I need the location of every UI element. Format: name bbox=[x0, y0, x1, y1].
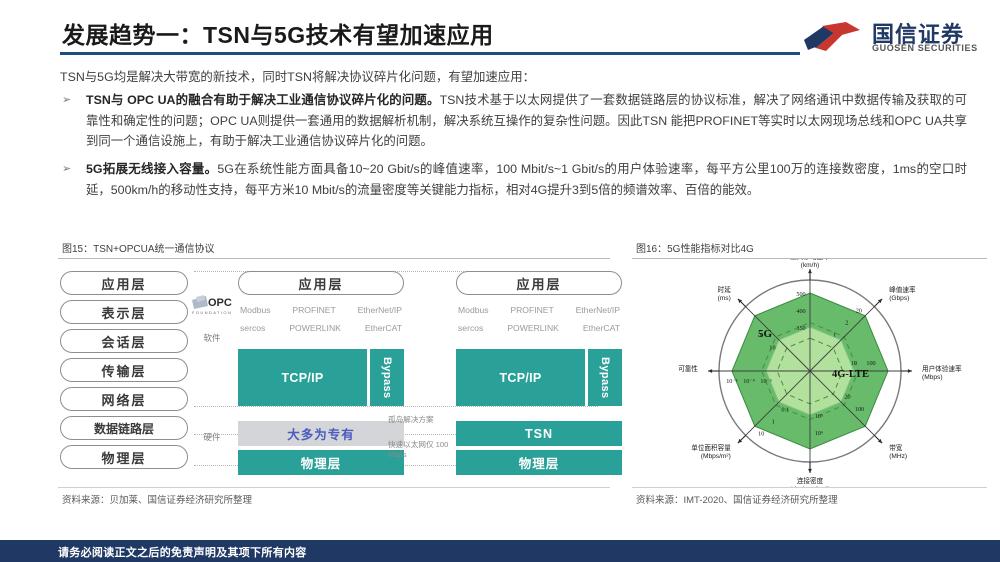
osi-layer-transport: 传输层 bbox=[60, 358, 188, 382]
note-island-solution: 孤岛解决方案 bbox=[388, 415, 452, 425]
protocol-ethercat: EtherCAT bbox=[365, 323, 402, 333]
figure-15-source: 资料来源：贝加莱、国信证券经济研究所整理 bbox=[58, 487, 610, 506]
svg-text:20: 20 bbox=[844, 394, 850, 401]
legacy-protocol-row-1: Modbus PROFINET EtherNet/IP bbox=[238, 305, 404, 315]
svg-text:10⁻⁵: 10⁻⁵ bbox=[726, 378, 738, 385]
tsn-transport-row: TCP/IP Bypass bbox=[456, 349, 622, 406]
osi-layer-datalink: 数据链路层 bbox=[60, 416, 188, 440]
radar-axis-label: 时延(ms) bbox=[718, 285, 732, 302]
svg-text:10: 10 bbox=[769, 344, 775, 351]
svg-text:10⁶: 10⁶ bbox=[815, 430, 823, 437]
osi-layer-column: 应用层 表示层 会话层 传输层 网络层 数据链路层 物理层 bbox=[60, 271, 188, 474]
footer-disclaimer-text: 请务必阅读正文之后的免责声明及其项下所有内容 bbox=[58, 544, 307, 560]
note-fast-ethernet: 快速以太网仅 100 Mbps bbox=[388, 440, 452, 459]
svg-text:20: 20 bbox=[856, 308, 862, 315]
tsn-application-layer: 应用层 bbox=[456, 271, 622, 295]
radar-axis-label: 最高移动速率(km/h) bbox=[790, 259, 830, 269]
software-label: 软件 bbox=[195, 332, 229, 344]
svg-text:OPC: OPC bbox=[208, 297, 232, 309]
tsn-tcpip-box: TCP/IP bbox=[456, 349, 585, 406]
guosen-logo-icon bbox=[802, 20, 864, 54]
bullet-item-1: ➢ TSN与 OPC UA的融合有助于解决工业通信协议碎片化的问题。TSN技术基… bbox=[62, 90, 967, 152]
protocol-ethernetip: EtherNet/IP bbox=[576, 305, 620, 315]
slide-header: 发展趋势一：TSN与5G技术有望加速应用 国信证券 GUOSEN SECURIT… bbox=[0, 0, 1000, 62]
svg-text:1: 1 bbox=[772, 419, 775, 426]
logo-text-en: GUOSEN SECURITIES bbox=[872, 43, 978, 53]
legend-4g-lte: 4G-LTE bbox=[832, 369, 869, 380]
hardware-label: 硬件 bbox=[195, 431, 229, 443]
radar-axis-label: 可靠性 bbox=[678, 364, 698, 373]
protocol-sercos: sercos bbox=[240, 323, 265, 333]
radar-chart: 350400500最高移动速率(km/h)1220峰值速率(Gbps)10100… bbox=[632, 259, 987, 487]
tsn-bypass-label: Bypass bbox=[599, 357, 611, 399]
protocol-ethercat: EtherCAT bbox=[583, 323, 620, 333]
radar-axis-label: 用户体验速率(Mbps) bbox=[922, 364, 962, 381]
tsn-protocol-row-2: sercos POWERLINK EtherCAT bbox=[456, 323, 622, 333]
page-title: 发展趋势一：TSN与5G技术有望加速应用 bbox=[62, 16, 494, 50]
protocol-profinet: PROFINET bbox=[510, 305, 553, 315]
stack-legacy: 应用层 Modbus PROFINET EtherNet/IP sercos P… bbox=[238, 271, 404, 333]
svg-text:FOUNDATION: FOUNDATION bbox=[192, 310, 232, 315]
figure-15: 图15：TSN+OPCUA统一通信协议 应用层 表示层 会话层 传输层 网络层 … bbox=[58, 240, 610, 512]
osi-layer-physical: 物理层 bbox=[60, 445, 188, 469]
svg-text:10: 10 bbox=[851, 360, 857, 367]
radar-axis-label: 单位面积容量(Mbps/m²) bbox=[691, 443, 731, 460]
protocol-modbus: Modbus bbox=[240, 305, 271, 315]
svg-text:10: 10 bbox=[758, 431, 764, 438]
svg-text:100: 100 bbox=[855, 406, 864, 413]
svg-text:100: 100 bbox=[866, 360, 875, 367]
bullet-marker: ➢ bbox=[62, 159, 78, 180]
protocol-powerlink: POWERLINK bbox=[289, 323, 341, 333]
bullet-lead-1: TSN与 OPC UA的融合有助于解决工业通信协议碎片化的问题。 bbox=[86, 93, 440, 107]
osi-layer-application: 应用层 bbox=[60, 271, 188, 295]
legacy-tcpip-box: TCP/IP bbox=[238, 349, 367, 406]
figure-16-source: 资料来源：IMT-2020、国信证券经济研究所整理 bbox=[632, 487, 987, 506]
divider-datalink bbox=[194, 406, 598, 407]
tsn-datalink-band: TSN bbox=[456, 421, 622, 446]
legacy-protocol-row-2: sercos POWERLINK EtherCAT bbox=[238, 323, 404, 333]
footer-disclaimer-bar: 请务必阅读正文之后的免责声明及其项下所有内容 bbox=[0, 540, 1000, 562]
legacy-application-layer: 应用层 bbox=[238, 271, 404, 295]
slide-page: 发展趋势一：TSN与5G技术有望加速应用 国信证券 GUOSEN SECURIT… bbox=[0, 0, 1000, 562]
tsn-physical-band: 物理层 bbox=[456, 450, 622, 475]
opc-foundation-logo-icon: OPC FOUNDATION bbox=[192, 294, 240, 316]
figure-16-caption: 图16：5G性能指标对比4G bbox=[632, 240, 987, 259]
tsn-bypass-box: Bypass bbox=[588, 349, 622, 406]
radar-axis-label: 峰值速率(Gbps) bbox=[889, 285, 916, 302]
title-underline bbox=[60, 52, 800, 55]
lead-paragraph: TSN与5G均是解决大带宽的新技术，同时TSN将解决协议碎片化问题，有望加速应用… bbox=[60, 68, 960, 86]
svg-text:2: 2 bbox=[845, 320, 848, 327]
svg-text:10⁻³: 10⁻³ bbox=[760, 378, 771, 385]
legacy-datalink-band: 大多为专有 bbox=[238, 421, 404, 446]
protocol-sercos: sercos bbox=[458, 323, 483, 333]
protocol-modbus: Modbus bbox=[458, 305, 489, 315]
bullet-marker: ➢ bbox=[62, 90, 78, 111]
radar-axis-label: 连接密度(devices/km²) bbox=[790, 476, 830, 487]
stack-tsn: 应用层 Modbus PROFINET EtherNet/IP sercos P… bbox=[456, 271, 622, 333]
osi-layer-network: 网络层 bbox=[60, 387, 188, 411]
svg-text:10⁻⁴: 10⁻⁴ bbox=[743, 378, 755, 385]
bullet-rest-2: 5G在系统性能方面具备10~20 Gbit/s的峰值速率，100 Mbit/s~… bbox=[86, 162, 967, 197]
svg-text:0.1: 0.1 bbox=[781, 407, 789, 414]
protocol-powerlink: POWERLINK bbox=[507, 323, 559, 333]
protocol-ethernetip: EtherNet/IP bbox=[358, 305, 402, 315]
bullet-text: 5G拓展无线接入容量。5G在系统性能方面具备10~20 Gbit/s的峰值速率，… bbox=[86, 159, 967, 200]
tsn-protocol-row-1: Modbus PROFINET EtherNet/IP bbox=[456, 305, 622, 315]
brand-logo: 国信证券 GUOSEN SECURITIES bbox=[802, 18, 980, 58]
protocol-profinet: PROFINET bbox=[292, 305, 335, 315]
svg-text:1: 1 bbox=[833, 332, 836, 339]
legend-5g: 5G bbox=[758, 328, 773, 340]
figure-16: 图16：5G性能指标对比4G 350400500最高移动速率(km/h)1220… bbox=[632, 240, 987, 512]
osi-layer-session: 会话层 bbox=[60, 329, 188, 353]
figure-15-body: 应用层 表示层 会话层 传输层 网络层 数据链路层 物理层 OPC FOUNDA… bbox=[58, 259, 610, 487]
radar-chart-svg: 350400500最高移动速率(km/h)1220峰值速率(Gbps)10100… bbox=[632, 259, 987, 487]
svg-text:500: 500 bbox=[796, 291, 805, 298]
legacy-bypass-label: Bypass bbox=[381, 357, 393, 399]
osi-layer-presentation: 表示层 bbox=[60, 300, 188, 324]
legacy-physical-band: 物理层 bbox=[238, 450, 404, 475]
bullet-item-2: ➢ 5G拓展无线接入容量。5G在系统性能方面具备10~20 Gbit/s的峰值速… bbox=[62, 159, 967, 200]
radar-axis-label: 带宽(MHz) bbox=[889, 443, 907, 460]
figure-16-body: 350400500最高移动速率(km/h)1220峰值速率(Gbps)10100… bbox=[632, 259, 987, 487]
svg-text:350: 350 bbox=[796, 325, 805, 332]
svg-text:400: 400 bbox=[796, 308, 805, 315]
legacy-bypass-box: Bypass bbox=[370, 349, 404, 406]
svg-text:10⁵: 10⁵ bbox=[815, 413, 823, 420]
figure-15-caption: 图15：TSN+OPCUA统一通信协议 bbox=[58, 240, 610, 259]
bullet-text: TSN与 OPC UA的融合有助于解决工业通信协议碎片化的问题。TSN技术基于以… bbox=[86, 90, 967, 152]
legacy-transport-row: TCP/IP Bypass bbox=[238, 349, 404, 406]
bullet-lead-2: 5G拓展无线接入容量。 bbox=[86, 162, 217, 176]
